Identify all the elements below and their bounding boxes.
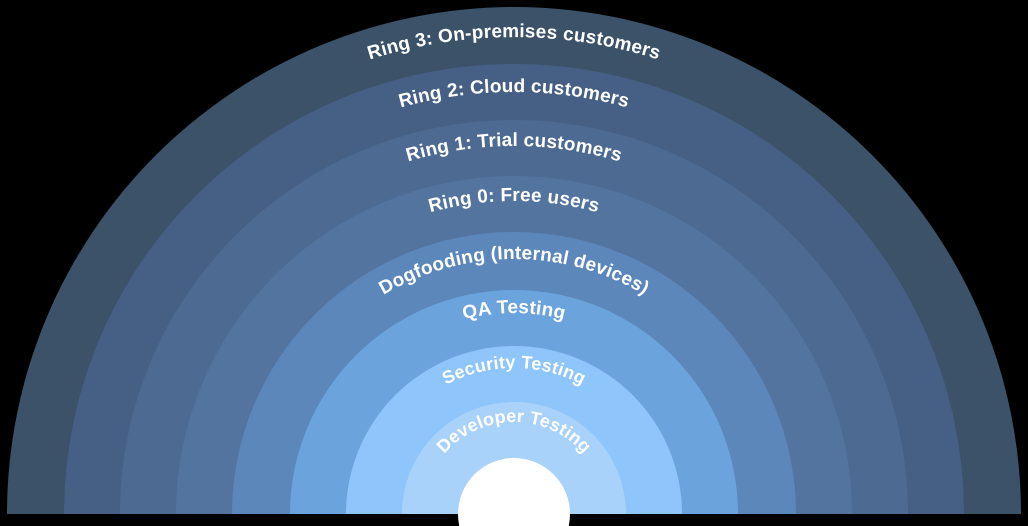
ring-diagram-canvas: Developer TestingSecurity TestingQA Test…	[0, 0, 1028, 526]
deployment-rings-diagram: Developer TestingSecurity TestingQA Test…	[0, 0, 1028, 526]
